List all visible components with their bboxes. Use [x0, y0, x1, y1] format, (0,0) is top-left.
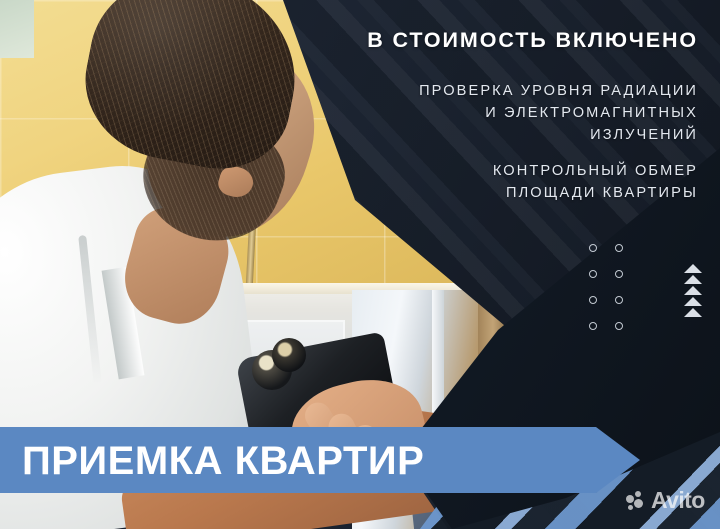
chevron-up-icon	[684, 275, 702, 284]
dot-icon	[589, 322, 597, 330]
avito-watermark: Avito	[626, 487, 705, 514]
feature-line: ИЗЛУЧЕНИЙ	[419, 124, 698, 146]
dot-icon	[615, 270, 623, 278]
dot-icon	[615, 322, 623, 330]
dot-icon	[589, 270, 597, 278]
dot-icon	[615, 244, 623, 252]
device-knob	[272, 338, 306, 372]
dot-icon	[589, 296, 597, 304]
dot-icon	[589, 244, 597, 252]
feature-line: КОНТРОЛЬНЫЙ ОБМЕР	[493, 160, 698, 182]
chevron-up-icon	[684, 297, 702, 306]
dot-icon	[615, 296, 623, 304]
wall-corner	[0, 0, 34, 58]
decorative-chevron-stack	[684, 264, 702, 317]
headline: В СТОИМОСТЬ ВКЛЮЧЕНО	[367, 28, 698, 53]
feature-line: И ЭЛЕКТРОМАГНИТНЫХ	[419, 102, 698, 124]
chevron-up-icon	[684, 308, 702, 317]
banner-title: ПРИЕМКА КВАРТИР	[22, 438, 424, 484]
feature-block-area-measurement: КОНТРОЛЬНЫЙ ОБМЕР ПЛОЩАДИ КВАРТИРЫ	[493, 160, 698, 204]
decorative-dot-grid	[585, 235, 637, 339]
feature-block-radiation: ПРОВЕРКА УРОВНЯ РАДИАЦИИ И ЭЛЕКТРОМАГНИТ…	[419, 80, 698, 146]
avito-logo-icon	[626, 491, 648, 511]
advertisement-banner: В СТОИМОСТЬ ВКЛЮЧЕНО ПРОВЕРКА УРОВНЯ РАД…	[0, 0, 720, 529]
feature-line: ПРОВЕРКА УРОВНЯ РАДИАЦИИ	[419, 80, 698, 102]
feature-line: ПЛОЩАДИ КВАРТИРЫ	[493, 182, 698, 204]
avito-wordmark: Avito	[651, 487, 705, 514]
chevron-up-icon	[684, 264, 702, 273]
chevron-up-icon	[684, 286, 702, 295]
